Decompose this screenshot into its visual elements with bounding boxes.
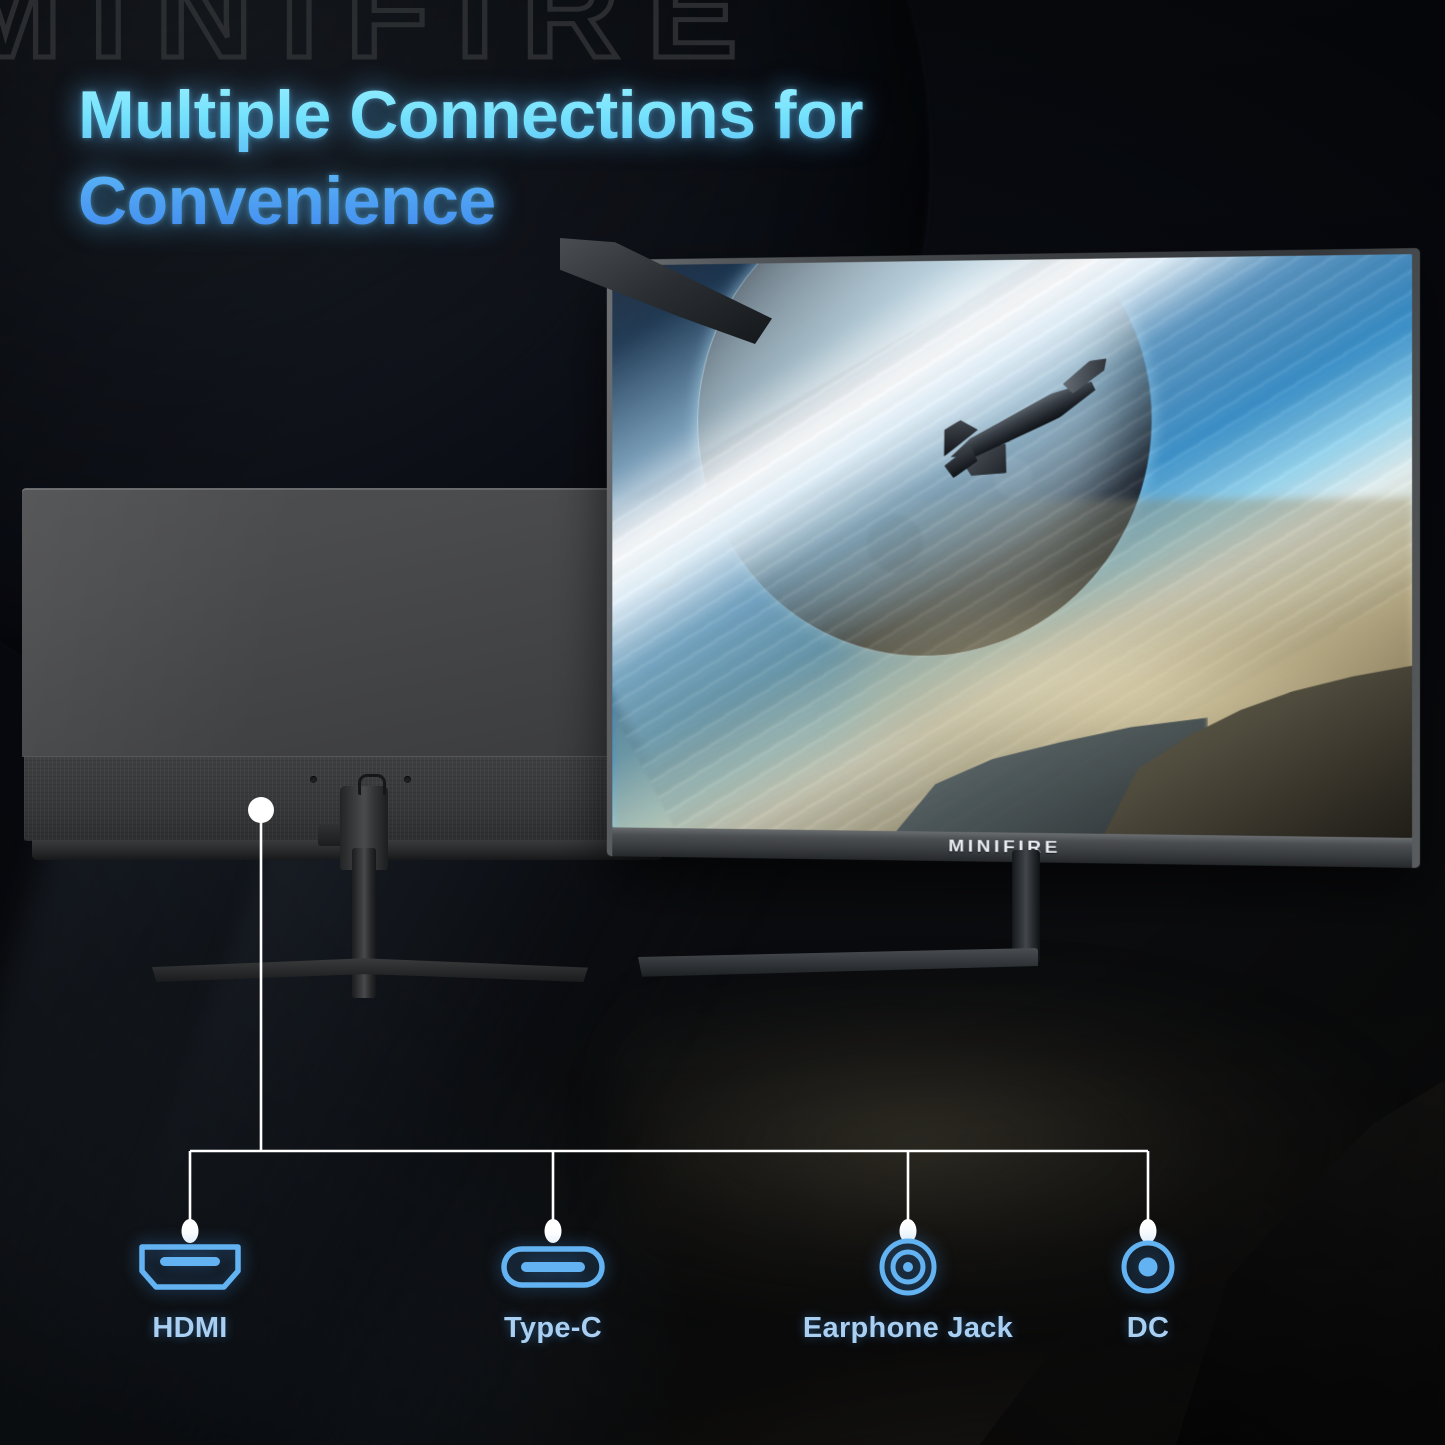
rear-stand-stem xyxy=(352,848,376,998)
port-item-hdmi: HDMI xyxy=(80,1236,300,1345)
port-label-hdmi: HDMI xyxy=(80,1312,300,1345)
rear-screw-right xyxy=(404,776,411,783)
monitor-bezel: MINIFIRE xyxy=(607,248,1420,868)
monitor-brand-logo: MINIFIRE xyxy=(948,837,1061,858)
page-title: Multiple Connections for Convenience xyxy=(78,72,1058,244)
front-stand-foot-left xyxy=(638,948,1038,978)
rear-screw-left xyxy=(310,776,317,783)
monitor-screen xyxy=(612,254,1412,838)
headline-line-2: Convenience xyxy=(78,158,1058,244)
port-item-earphone: Earphone Jack xyxy=(798,1236,1018,1345)
usb-c-port-icon xyxy=(443,1236,663,1298)
port-label-typec: Type-C xyxy=(443,1312,663,1345)
front-stand-neck xyxy=(1012,850,1040,962)
hdmi-port-icon xyxy=(80,1236,300,1298)
headline-line-1: Multiple Connections for xyxy=(78,77,863,153)
port-item-typec: Type-C xyxy=(443,1236,663,1345)
product-feature-banner: MINIFIRE Multiple Connections for Conven… xyxy=(0,0,1445,1445)
port-legend: HDMI Type-C Earphone Jack xyxy=(0,1236,1445,1396)
port-label-earphone: Earphone Jack xyxy=(798,1312,1018,1345)
port-item-dc: DC xyxy=(1038,1236,1258,1345)
monitor-front-view: MINIFIRE xyxy=(560,238,1440,1038)
rear-cable-clip-icon xyxy=(358,774,386,795)
dc-power-jack-icon xyxy=(1038,1236,1258,1298)
port-label-dc: DC xyxy=(1038,1312,1258,1345)
headphone-jack-icon xyxy=(798,1236,1018,1298)
